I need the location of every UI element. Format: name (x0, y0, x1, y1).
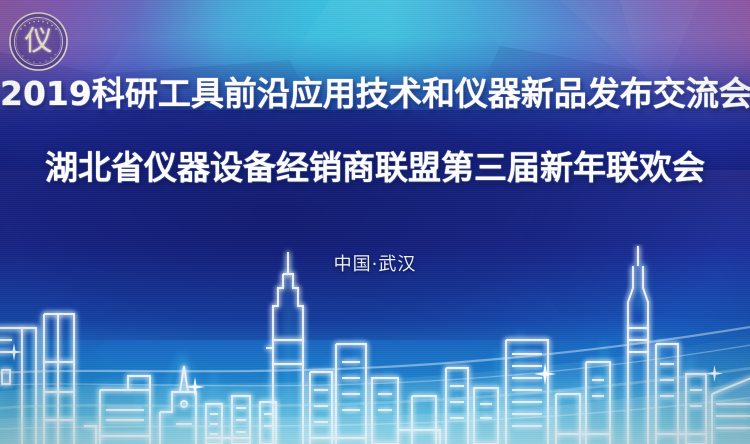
event-banner: 仪 2019科研工具前沿应用技术和仪器新品发布交流会 湖北省仪器设备经销商联盟第… (0, 0, 750, 444)
city-skyline-silhouette (0, 244, 750, 444)
seal-center-character: 仪 (8, 27, 69, 55)
event-title-primary: 2019科研工具前沿应用技术和仪器新品发布交流会 (0, 67, 750, 115)
event-title-secondary: 湖北省仪器设备经销商联盟第三届新年联欢会 (0, 141, 750, 189)
association-logo: 仪 (8, 11, 69, 72)
